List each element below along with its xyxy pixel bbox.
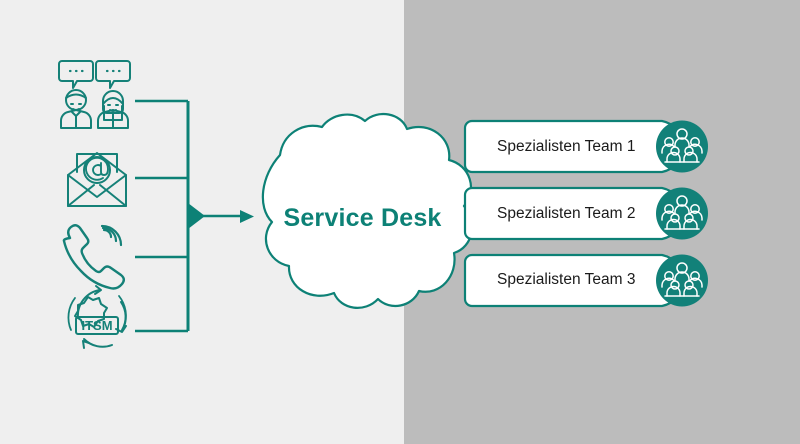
chat-users-icon (59, 61, 130, 128)
envelope-creases (68, 185, 126, 206)
envelope-flap (68, 175, 126, 197)
user-male-figure (61, 90, 91, 128)
team-label-2: Spezialisten Team 2 (497, 205, 635, 223)
team-label-3: Spezialisten Team 3 (497, 271, 635, 289)
itsm-label-text: ITSM (81, 318, 112, 333)
flow-arrow-head (240, 210, 254, 223)
diagram-canvas: ITSM (0, 0, 800, 444)
channel-connector-lines (135, 101, 188, 331)
itsm-arc-outer-left (68, 298, 75, 330)
flow-arrow (188, 203, 254, 229)
email-envelope-icon (68, 153, 126, 206)
itsm-arc-outer-right (119, 296, 126, 327)
chat-bubble-right (96, 61, 130, 88)
user-female-figure (98, 91, 128, 128)
itsm-arrow-bottom (83, 341, 89, 348)
at-glyph (86, 158, 108, 180)
service-desk-label: Service Desk (255, 204, 470, 233)
chat-bubble-left (59, 61, 93, 88)
team-label-1: Spezialisten Team 1 (497, 138, 635, 156)
itsm-gear-icon: ITSM (68, 286, 126, 348)
phone-call-icon (64, 225, 124, 288)
